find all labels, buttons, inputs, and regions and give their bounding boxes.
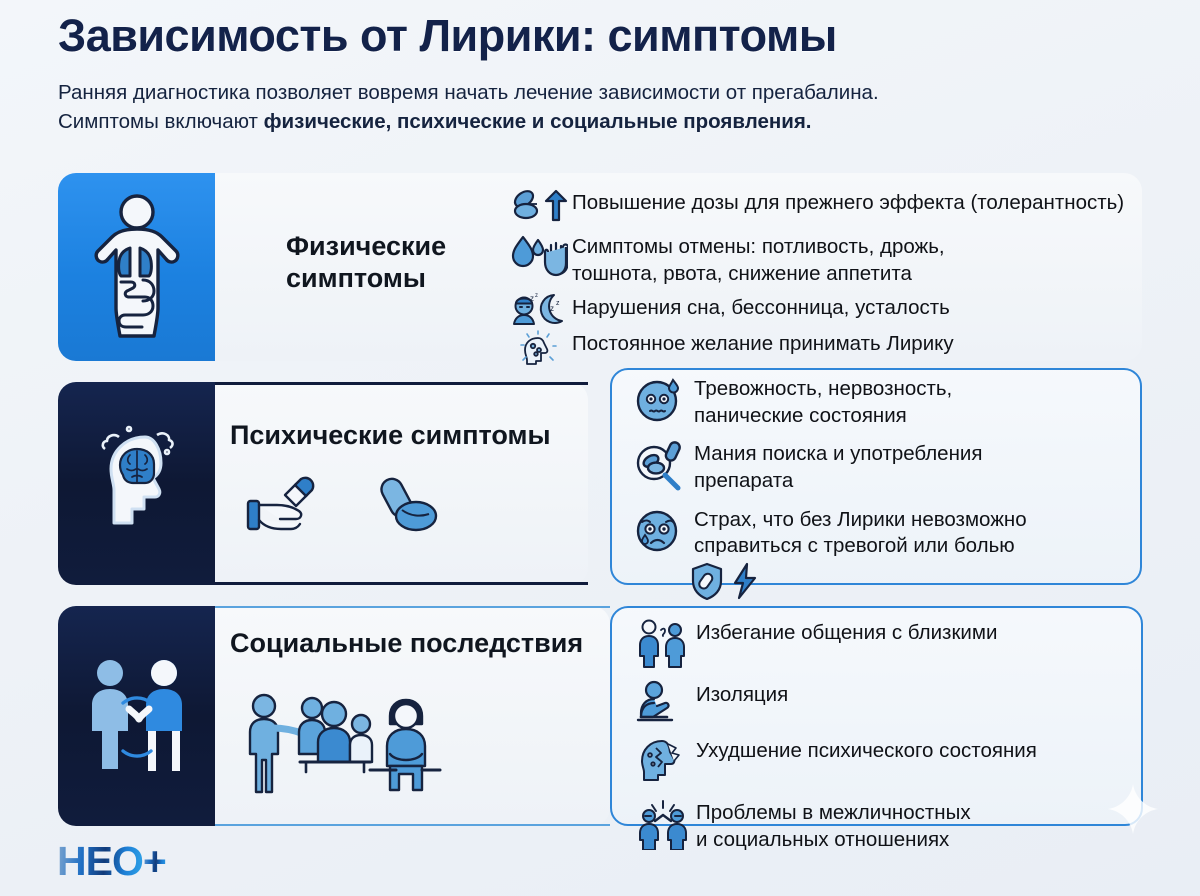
section-title-psychological: Психические симптомы: [230, 420, 551, 452]
brand-logo: НЕО+: [57, 838, 166, 885]
list-item-text: Нарушения сна, бессонница, усталость: [572, 293, 950, 322]
pills-icon: [376, 472, 454, 549]
subtitle-line-2-bold: физические, психические и социальные про…: [264, 110, 812, 133]
svg-text:z: z: [550, 304, 554, 313]
svg-text:z: z: [556, 300, 560, 307]
list-item: Мания поиска и употребления препарата: [632, 439, 1152, 494]
list-item-text: Проблемы в межличностных и социальных от…: [696, 798, 971, 853]
list-item-text: Изоляция: [696, 680, 788, 709]
infographic-page: Зависимость от Лирики: симптомы Ранняя д…: [0, 0, 1200, 896]
list-item-text: Ухудшение психического состояния: [696, 736, 1037, 765]
conflict-people-icon: [636, 798, 696, 850]
svg-text:z: z: [535, 293, 538, 299]
lightning-bolt-icon: [732, 562, 758, 605]
pills-up-arrow-icon: [510, 188, 572, 224]
shield-pill-icon: [690, 562, 724, 605]
subtitle-line-2-prefix: Симптомы включают: [58, 110, 264, 133]
card-physical-symptoms: Физические симптомы Повышение дозы для п…: [58, 173, 1142, 361]
list-item-text: Страх, что без Лирики невозможно справит…: [694, 505, 1027, 560]
psychological-panel: [58, 382, 215, 585]
list-item: Избегание общения с близкими: [636, 618, 1146, 668]
list-item-text: Симптомы отмены: потливость, дрожь, тошн…: [572, 232, 945, 287]
avoiding-people-icon: [636, 618, 696, 668]
list-item: Постоянное желание принимать Лирику: [510, 329, 1200, 365]
list-item: Изоляция: [636, 680, 1146, 724]
anxious-face-icon: [632, 374, 694, 426]
two-people-handshake-icon: [77, 651, 197, 781]
list-item-text: Мания поиска и употребления препарата: [694, 439, 982, 494]
svg-text:z: z: [530, 294, 534, 303]
list-item: Симптомы отмены: потливость, дрожь, тошн…: [510, 232, 1200, 287]
card-psychological-symptoms: Психические симптомы: [58, 382, 588, 585]
section-title-social: Социальные последствия: [230, 628, 583, 660]
subtitle-line-1: Ранняя диагностика позволяет вовремя нач…: [58, 81, 879, 104]
page-subtitle: Ранняя диагностика позволяет вовремя нач…: [58, 78, 1148, 137]
header: Зависимость от Лирики: симптомы Ранняя д…: [58, 12, 1158, 137]
social-consequence-list: Избегание общения с близкими Изоляция: [636, 618, 1146, 853]
psychological-footer-icons: [690, 562, 1152, 605]
broken-mind-icon: [636, 736, 696, 786]
family-gathering-icon: [238, 684, 450, 809]
list-item: Страх, что без Лирики невозможно справит…: [632, 505, 1152, 560]
divider-bottom: [215, 582, 588, 585]
craving-head-icon: [510, 329, 572, 365]
magnifier-pills-icon: [632, 439, 694, 493]
list-item-text: Тревожность, нервозность, панические сос…: [694, 374, 952, 429]
logo-text: НЕО: [57, 838, 143, 884]
card-social-consequences: Социальные последствия: [58, 606, 610, 826]
human-body-organs-icon: [85, 192, 189, 342]
list-item: Проблемы в межличностных и социальных от…: [636, 798, 1146, 853]
sitting-alone-icon: [636, 680, 696, 724]
divider-top: [215, 382, 588, 385]
list-item: z z z z Нарушения сна, бессонница, устал…: [510, 293, 1200, 327]
list-item-text: Постоянное желание принимать Лирику: [572, 329, 954, 358]
psychological-symptom-list: Тревожность, нервозность, панические сос…: [632, 374, 1152, 605]
page-title: Зависимость от Лирики: симптомы: [58, 12, 1158, 61]
sweat-drops-trembling-hand-icon: [510, 232, 572, 278]
list-item: Повышение дозы для прежнего эффекта (тол…: [510, 188, 1200, 224]
section-title-physical: Физические симптомы: [286, 231, 446, 295]
social-panel: [58, 606, 215, 826]
list-item: Ухудшение психического состояния: [636, 736, 1146, 786]
list-item-text: Избегание общения с близкими: [696, 618, 997, 647]
worried-face-icon: [632, 505, 694, 557]
list-item-text: Повышение дозы для прежнего эффекта (тол…: [572, 188, 1124, 217]
list-item: Тревожность, нервозность, панические сос…: [632, 374, 1152, 429]
physical-symptom-list: Повышение дозы для прежнего эффекта (тол…: [510, 188, 1200, 371]
hand-with-capsule-icon: [244, 474, 338, 549]
logo-plus: +: [143, 838, 166, 884]
sleepless-face-moon-icon: z z z z: [510, 293, 572, 327]
divider-top: [215, 606, 610, 608]
head-brain-icon: [85, 419, 189, 549]
divider-bottom: [215, 824, 610, 826]
physical-panel: [58, 173, 215, 361]
